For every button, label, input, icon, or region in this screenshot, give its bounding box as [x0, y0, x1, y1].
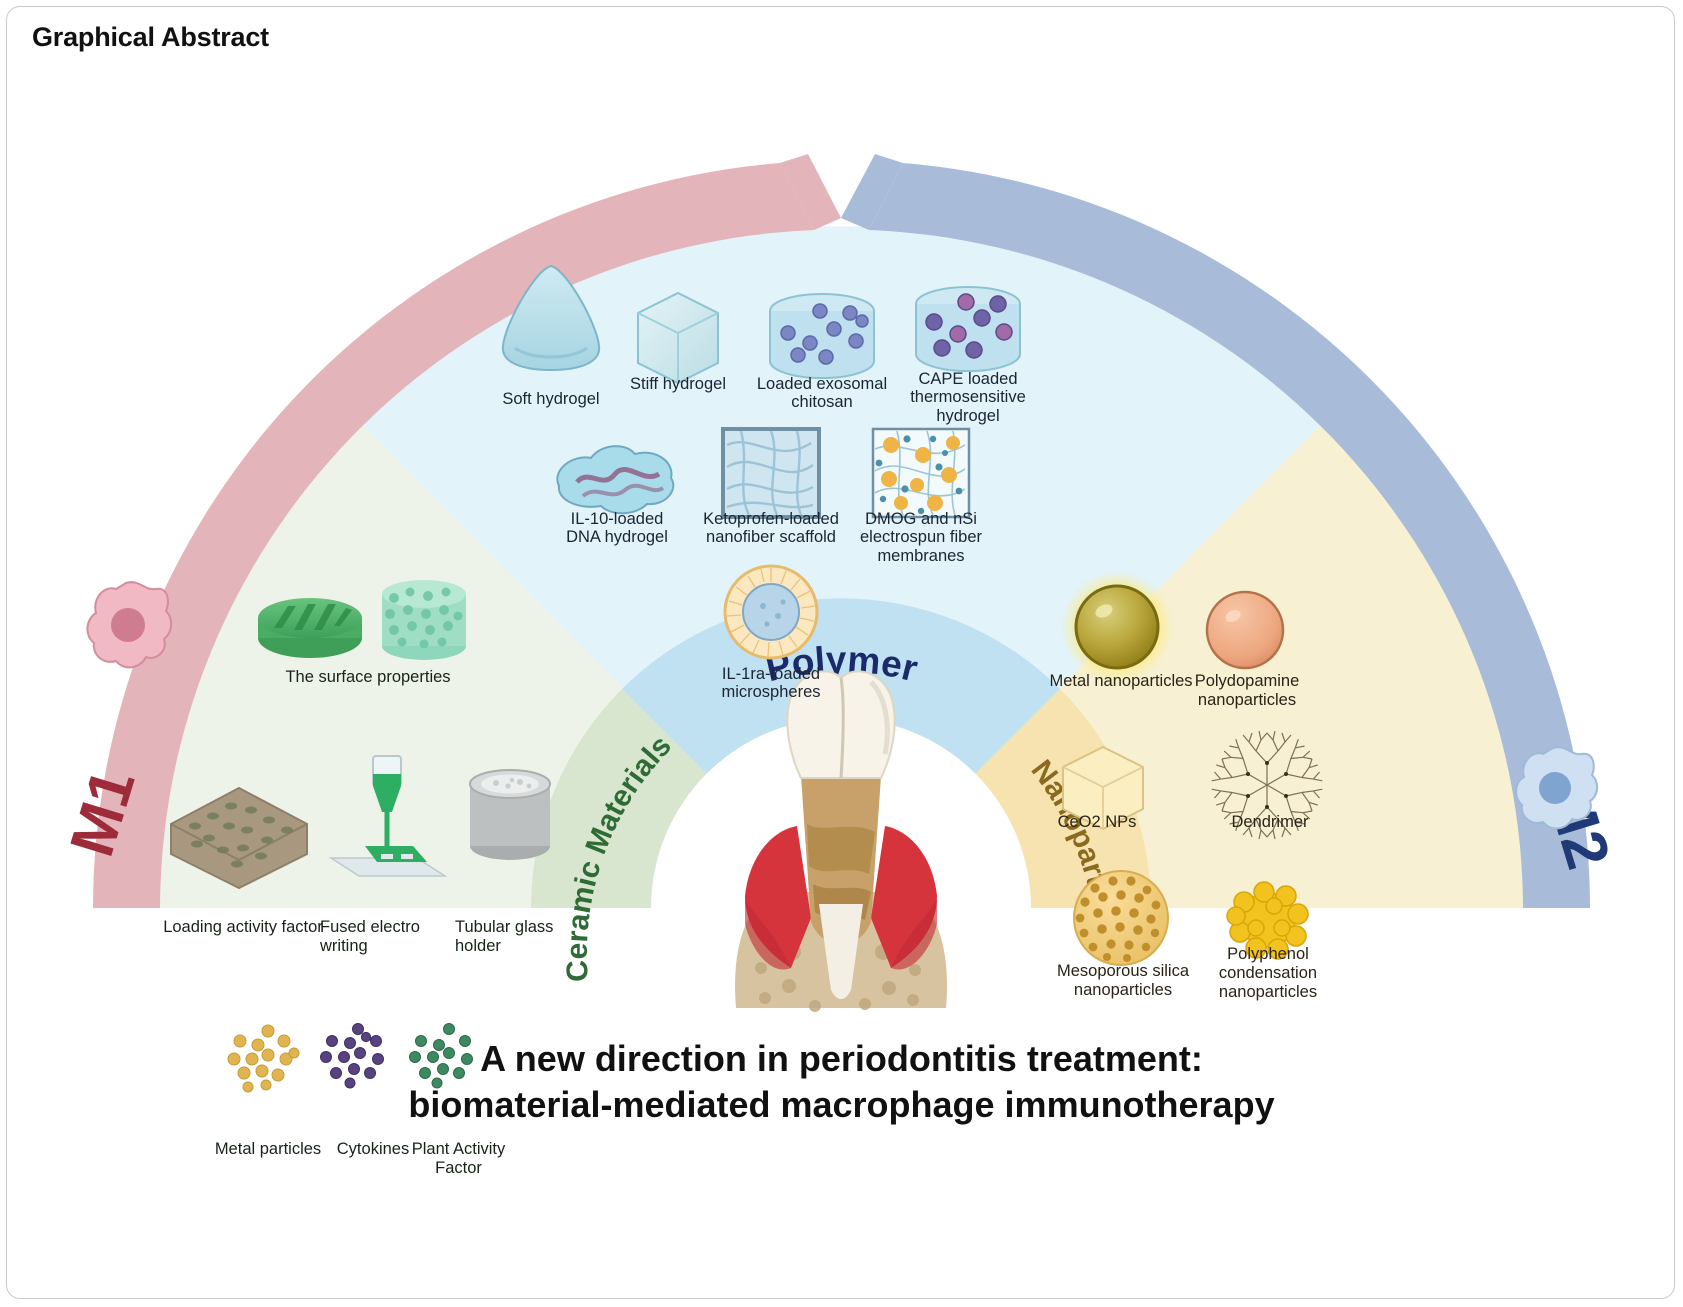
ceramic-item-label: Plant Activity Factor — [396, 1140, 521, 1178]
ceramic-item-label: Metal particles — [198, 1140, 338, 1159]
nanoparticle-item-label: Mesoporous silica nanoparticles — [1038, 962, 1208, 1000]
nanofiber-scaffold-square-icon — [723, 429, 819, 517]
nanoparticle-item-label: Dendrimer — [1205, 813, 1335, 832]
cape-loaded-hydrogel-icon — [916, 287, 1020, 371]
ceramic-item-label: Tubular glass holder — [455, 918, 575, 956]
figure-stage: M1 M2 Polymer Ceramic Materials Nanopart… — [0, 100, 1683, 1010]
tubular-glass-cylinder-icon — [470, 770, 550, 860]
polydopamine-nanoparticle-sphere-icon — [1207, 592, 1283, 668]
page-title: Graphical Abstract — [32, 22, 269, 53]
nanoparticle-item-label: Polyphenol condensation nanoparticles — [1198, 945, 1338, 1001]
mesoporous-silica-sphere-icon — [1074, 871, 1168, 965]
caption-line-2: biomaterial-mediated macrophage immunoth… — [0, 1082, 1683, 1128]
polymer-item-label: IL-10-loaded DNA hydrogel — [537, 510, 697, 547]
microsphere-ring-icon — [725, 566, 817, 658]
nanoparticle-item-label: Polydopamine nanoparticles — [1177, 672, 1317, 710]
polymer-item-label: IL-1ra-loaded microspheres — [691, 665, 851, 702]
grooved-disc-icon — [258, 598, 362, 658]
m1-macrophage-icon — [87, 582, 171, 667]
metal-nanoparticle-sphere-icon — [1061, 571, 1173, 683]
polymer-item-label: CAPE loaded thermosensitive hydrogel — [888, 370, 1048, 425]
ceramic-item-label: Loading activity factor — [155, 918, 331, 937]
m2-macrophage-icon — [1516, 747, 1597, 828]
graphical-abstract-page: Graphical Abstract — [0, 0, 1683, 1307]
polymer-item-label: DMOG and nSi electrospun fiber membranes — [841, 510, 1001, 565]
loaded-exosomal-chitosan-icon — [770, 294, 874, 378]
stiff-hydrogel-cube-icon — [638, 293, 718, 383]
figure-caption: A new direction in periodontitis treatme… — [0, 1036, 1683, 1128]
porous-cylinder-icon — [382, 580, 466, 660]
polymer-item-label: Loaded exosomal chitosan — [742, 375, 902, 412]
caption-line-1: A new direction in periodontitis treatme… — [0, 1036, 1683, 1082]
ceramic-item-label: The surface properties — [258, 668, 478, 687]
electrospun-fiber-membrane-icon — [873, 429, 969, 517]
polymer-item-label: Stiff hydrogel — [598, 375, 758, 393]
polymer-item-label: Ketoprofen-loaded nanofiber scaffold — [681, 510, 861, 547]
ceramic-item-label: Fused electro writing — [320, 918, 450, 956]
nanoparticle-item-label: CeO2 NPs — [1032, 813, 1162, 832]
